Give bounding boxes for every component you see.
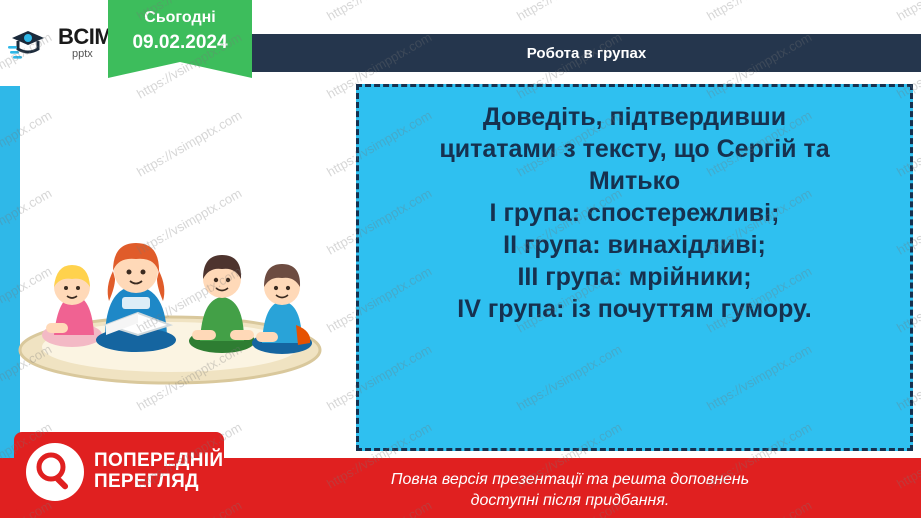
content-line-1: Доведіть, підтвердивши bbox=[370, 101, 899, 133]
footer-note-line-2: доступні після придбання. bbox=[250, 490, 890, 512]
watermark-text: https://vsimpptx.com bbox=[704, 0, 814, 24]
slide: Доведіть, підтвердивши цитатами з тексту… bbox=[0, 0, 921, 518]
header-bar: Робота в групах bbox=[252, 34, 921, 72]
content-line-3: Митько bbox=[370, 165, 899, 197]
content-line-6: III група: мрійники; bbox=[370, 261, 899, 293]
footer-note-line-1: Повна версія презентації та решта доповн… bbox=[250, 469, 890, 491]
content-line-7: IV група: із почуттям гумору. bbox=[370, 293, 899, 325]
date-flag-date: 09.02.2024 bbox=[108, 32, 252, 54]
preview-badge: ПОПЕРЕДНІЙ ПЕРЕГЛЯД bbox=[14, 432, 224, 512]
content-line-2: цитатами з тексту, що Сергій та bbox=[370, 133, 899, 165]
magnifier-icon bbox=[26, 443, 84, 501]
graduation-cap-icon bbox=[8, 26, 52, 60]
watermark-text: https://vsimpptx.com bbox=[514, 0, 624, 24]
footer-note: Повна версія презентації та решта доповн… bbox=[250, 469, 890, 512]
watermark-text: https://vsimpptx.com bbox=[894, 0, 921, 24]
page-title: Робота в групах bbox=[527, 45, 646, 62]
logo-subtitle: pptx bbox=[72, 49, 112, 60]
content-line-5: II група: винахідливі; bbox=[370, 229, 899, 261]
date-flag-label: Сьогодні bbox=[108, 9, 252, 27]
children-sitting-group-illustration bbox=[10, 175, 340, 395]
badge-line-2: ПЕРЕГЛЯД bbox=[94, 472, 223, 493]
badge-line-1: ПОПЕРЕДНІЙ bbox=[94, 451, 223, 472]
main-content-box: Доведіть, підтвердивши цитатами з тексту… bbox=[356, 84, 913, 451]
content-line-4: I група: спостережливі; bbox=[370, 197, 899, 229]
logo-title: BCIM bbox=[58, 26, 112, 48]
